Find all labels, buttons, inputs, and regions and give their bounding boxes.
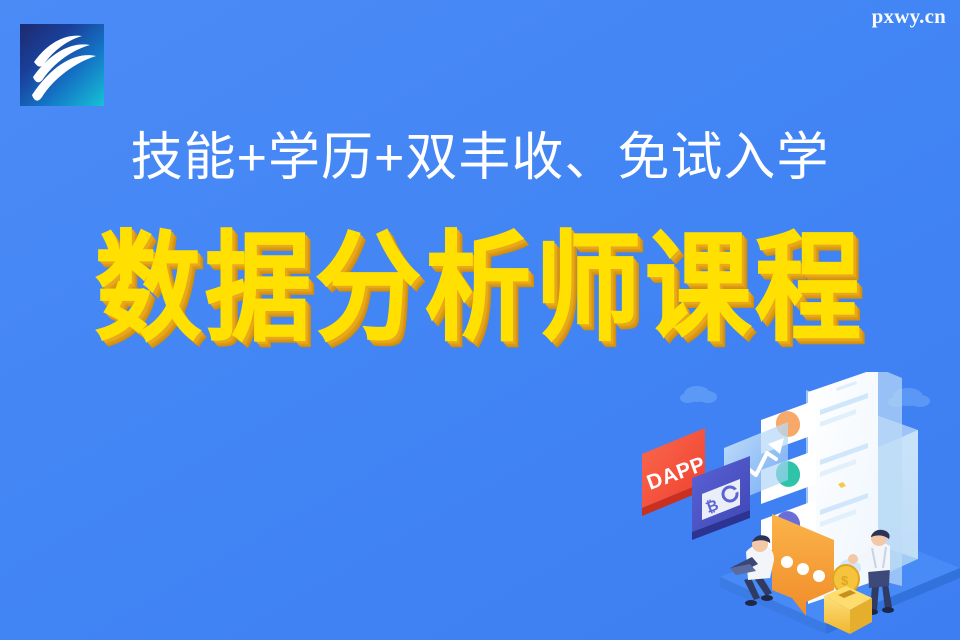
person-with-laptop bbox=[730, 535, 774, 606]
watermark-text: pxwy.cn bbox=[872, 4, 946, 29]
cloud-icon bbox=[680, 386, 717, 403]
logo-swoosh-icon bbox=[20, 24, 104, 106]
brand-logo bbox=[20, 24, 104, 106]
hero-illustration: DAPP ₿ bbox=[620, 372, 960, 640]
poster-canvas: pxwy.cn 技能+学历+双丰收、免试入学 数据分析师课程 bbox=[0, 0, 960, 640]
coin-symbol-icon: $ bbox=[841, 573, 849, 588]
subtitle-text: 技能+学历+双丰收、免试入学 bbox=[0, 128, 960, 188]
page-title: 数据分析师课程 bbox=[0, 224, 960, 354]
